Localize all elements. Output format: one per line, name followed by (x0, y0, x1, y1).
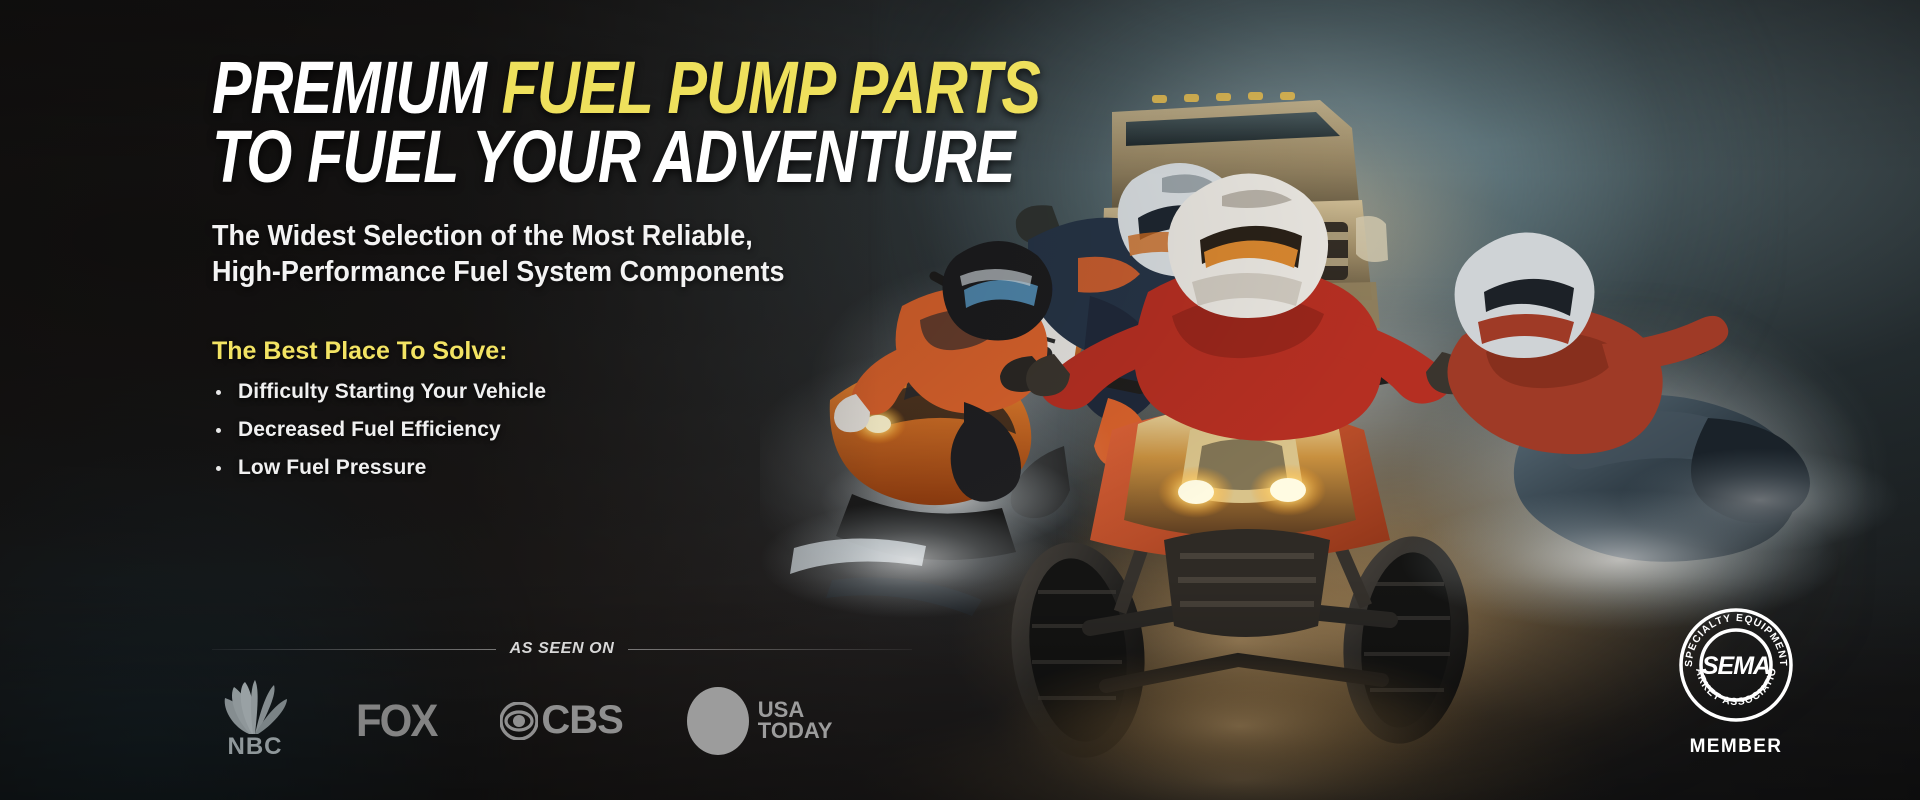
sema-center-text: SEMA (1702, 652, 1770, 680)
solve-title: The Best Place To Solve: (212, 337, 1172, 366)
sema-badge: SPECIALTY EQUIPMENT MARKET ASSOCIATION S… (1670, 608, 1802, 758)
as-seen-on-section: AS SEEN ON NBC FOX (212, 640, 912, 761)
usa-today-circle-icon (687, 687, 749, 755)
fox-logo-text: FOX (356, 695, 436, 747)
fox-logo: FOX (356, 697, 436, 745)
as-seen-on-header: AS SEEN ON (212, 640, 912, 658)
bullet-icon (216, 466, 221, 471)
headline-line2: TO FUEL YOUR ADVENTURE (212, 123, 980, 192)
press-logos: NBC FOX CBS USA TODAY (212, 680, 912, 761)
list-item-label: Low Fuel Pressure (238, 456, 426, 479)
divider-left (212, 649, 496, 650)
sema-seal-icon: SPECIALTY EQUIPMENT MARKET ASSOCIATION S… (1679, 608, 1793, 722)
divider-right (628, 649, 912, 650)
cbs-eye-icon (500, 702, 538, 740)
usa-today-logo-text: USA TODAY (758, 700, 833, 740)
subheadline-line2: High-Performance Fuel System Components (212, 254, 1105, 291)
list-item-label: Difficulty Starting Your Vehicle (238, 380, 546, 403)
subheadline: The Widest Selection of the Most Reliabl… (212, 218, 1105, 292)
usa-today-line2: TODAY (758, 721, 833, 741)
cbs-logo: CBS (500, 698, 622, 743)
hero-copy: PREMIUM FUEL PUMP PARTS TO FUEL YOUR ADV… (212, 54, 1172, 494)
hero-banner: 5 (0, 0, 1920, 800)
nbc-logo-text: NBC (228, 733, 283, 761)
list-item: Decreased Fuel Efficiency (212, 418, 1172, 442)
nbc-logo: NBC (218, 680, 292, 761)
list-item: Difficulty Starting Your Vehicle (212, 380, 1172, 404)
page-title: PREMIUM FUEL PUMP PARTS TO FUEL YOUR ADV… (212, 54, 980, 192)
bullet-icon (216, 390, 221, 395)
list-item: Low Fuel Pressure (212, 456, 1172, 480)
list-item-label: Decreased Fuel Efficiency (238, 418, 501, 441)
sema-member-caption: MEMBER (1670, 736, 1802, 758)
solve-list: Difficulty Starting Your Vehicle Decreas… (212, 380, 1172, 480)
as-seen-on-label: AS SEEN ON (510, 640, 615, 658)
bullet-icon (216, 428, 221, 433)
cbs-logo-text: CBS (541, 698, 622, 743)
usa-today-logo: USA TODAY (687, 687, 833, 755)
nbc-peacock-icon (218, 680, 292, 736)
subheadline-line1: The Widest Selection of the Most Reliabl… (212, 218, 1105, 255)
